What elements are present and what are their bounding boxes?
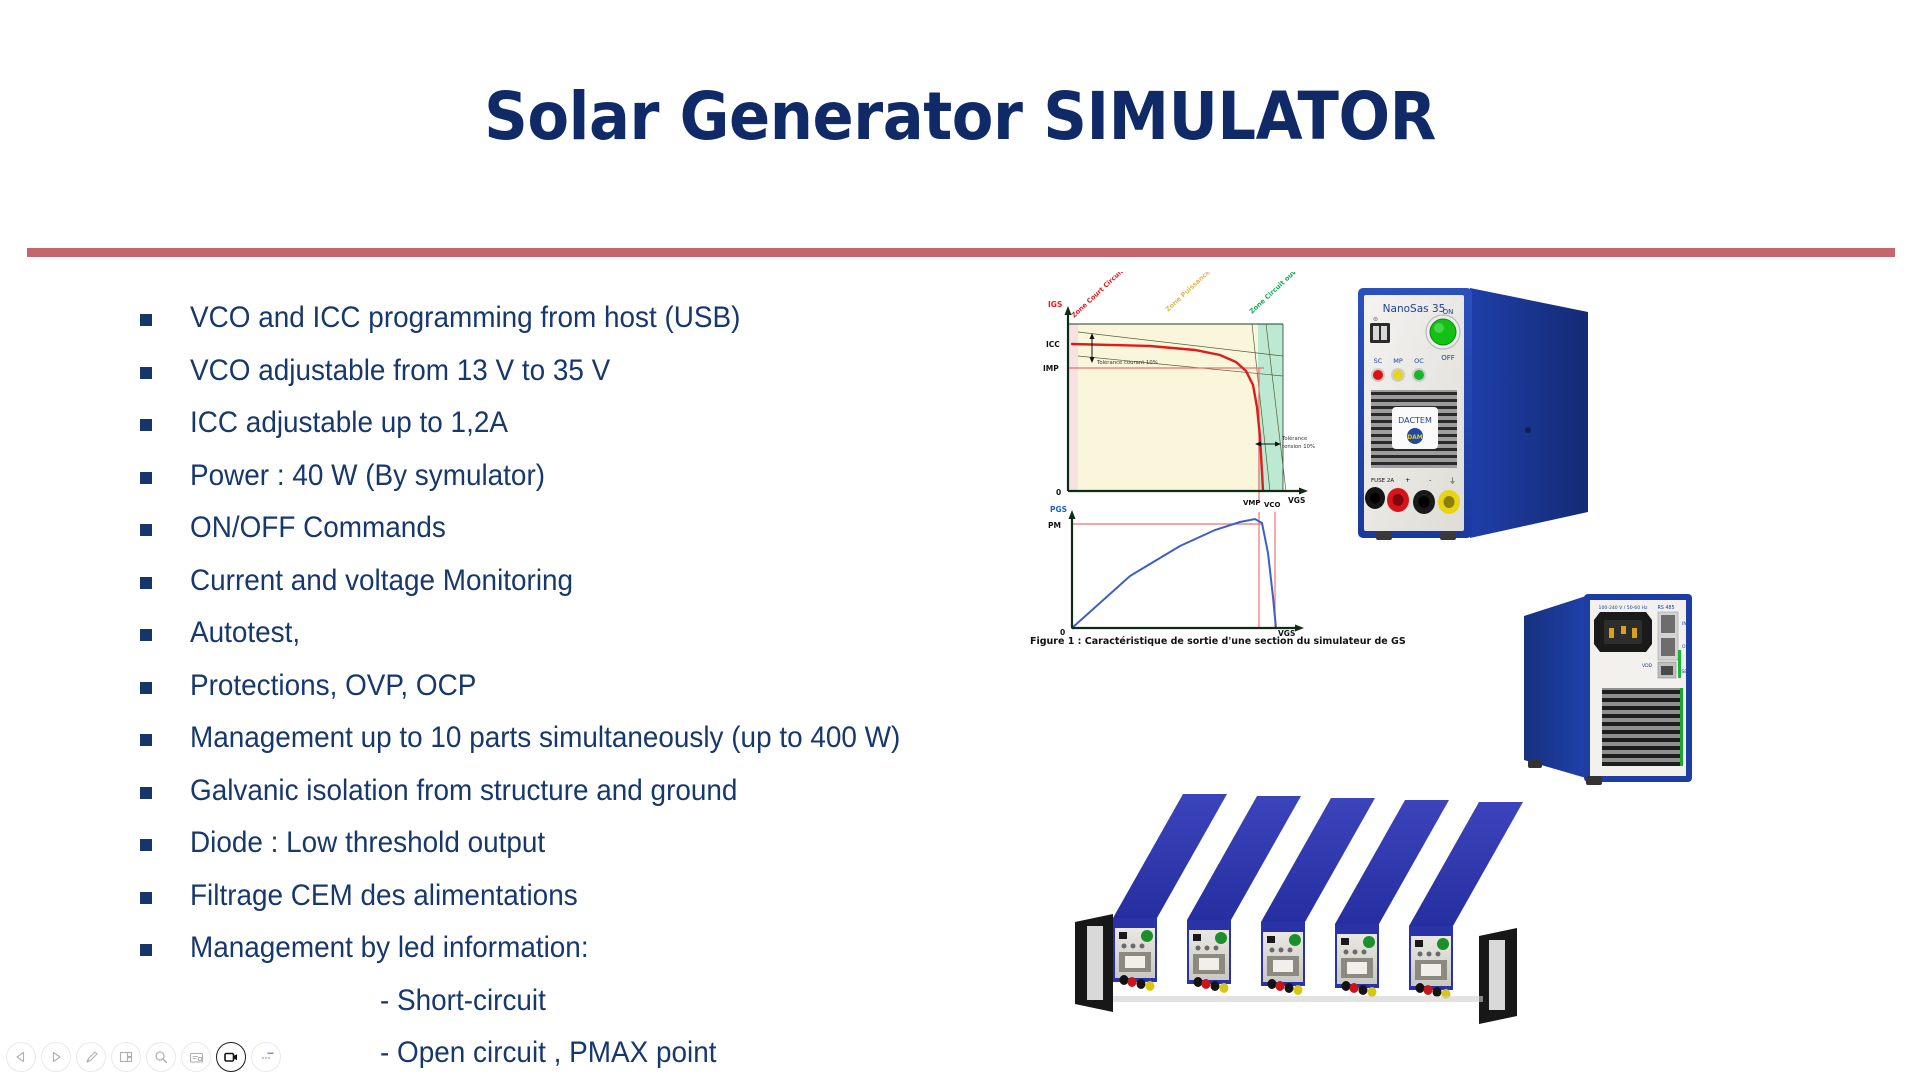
iec-pin-earth <box>1621 626 1626 634</box>
pv-y-axis-label: PGS <box>1050 505 1067 514</box>
terminal-label-positive: + <box>1405 476 1410 484</box>
sub-list-item: - Short-circuit <box>140 981 1045 1034</box>
zone-label-power: Zone Puissance <box>1164 272 1212 313</box>
sub-brand-label: DAM <box>1407 434 1423 441</box>
module-power-led <box>1215 932 1227 944</box>
bus-label: RS 485 <box>1657 605 1674 611</box>
rack-ear-right-plate <box>1489 940 1505 1010</box>
banana-jack-negative-hole <box>1419 496 1430 508</box>
rack-base-shadow <box>1113 996 1483 1002</box>
list-item: Protections, OVP, OCP <box>140 666 1045 719</box>
nanosas-front-unit-photo: NanoSas 35 ⊜ ON OFF SC MP OC <box>1348 280 1678 580</box>
module-power-led <box>1289 934 1301 946</box>
rear-foot-right <box>1586 776 1602 785</box>
current-tolerance-label: Tolérance courant 10% <box>1096 359 1158 366</box>
rj-port-in-label: IN <box>1682 621 1687 627</box>
presentation-icon <box>189 1050 204 1065</box>
rj-port-out[interactable] <box>1661 638 1675 656</box>
rear-vent-edge-led <box>1680 688 1683 766</box>
iv-x-axis-label: VGS <box>1288 496 1305 505</box>
banana-jack-fuse-hole <box>1370 493 1380 504</box>
device-model-label: NanoSas 35 <box>1383 303 1446 315</box>
list-item-label: Filtrage CEM des alimentations <box>190 876 578 916</box>
figure-svg: IGS ICC IMP 0 VMP VCO VGS Tolérance cour… <box>1030 272 1325 657</box>
short-circuit-zone <box>1068 324 1078 491</box>
bullet-square-icon <box>140 419 152 431</box>
list-item: ON/OFF Commands <box>140 508 1045 561</box>
nanosas-rear-unit-photo: 100-240 V / 50-60 Hz RS 485 IN OUT USB V… <box>1518 588 1733 803</box>
rear-foot-left <box>1528 760 1542 768</box>
page-title: Solar Generator SIMULATOR <box>77 78 1843 155</box>
iv-x-axis-arrow <box>1299 488 1308 495</box>
previous-slide-button[interactable] <box>6 1042 36 1072</box>
list-item: Galvanic isolation from structure and gr… <box>140 771 1045 824</box>
annotate-button[interactable] <box>76 1042 106 1072</box>
list-item-label: VCO adjustable from 13 V to 35 V <box>190 351 610 391</box>
rj-port-out-label: OUT <box>1682 644 1692 650</box>
list-item: Management up to 10 parts simultaneously… <box>140 718 1045 771</box>
slide-grid-button[interactable] <box>111 1042 141 1072</box>
power-button[interactable] <box>1430 319 1456 345</box>
list-item-label: Protections, OVP, OCP <box>190 666 476 706</box>
chassis-foot-left <box>1376 532 1392 540</box>
usb-port-icon: ⊜ <box>1373 316 1378 323</box>
module-switch[interactable] <box>1119 932 1127 939</box>
rear-chassis-side <box>1524 596 1586 778</box>
led-vdd-label: VDD <box>1642 663 1653 669</box>
list-item-label: Galvanic isolation from structure and gr… <box>190 771 737 811</box>
zone-label-short-circuit: Zone Court Circuit <box>1070 272 1125 319</box>
list-item-label: Diode : Low threshold output <box>190 823 545 863</box>
feature-bullet-list: VCO and ICC programming from host (USB) … <box>140 298 1045 1080</box>
next-slide-button[interactable] <box>41 1042 71 1072</box>
nanosas-rear-svg: 100-240 V / 50-60 Hz RS 485 IN OUT USB V… <box>1518 588 1733 803</box>
bullet-square-icon <box>140 787 152 799</box>
list-item: VCO adjustable from 13 V to 35 V <box>140 351 1045 404</box>
bullet-square-icon <box>140 629 152 641</box>
triangle-right-icon <box>49 1050 63 1064</box>
pv-x-axis-arrow <box>1295 625 1304 632</box>
module-switch[interactable] <box>1267 936 1275 943</box>
sub-list-item-label: - Short-circuit <box>380 981 546 1034</box>
list-item-label: Power : 40 W (By symulator) <box>190 456 545 496</box>
bullet-square-icon <box>140 944 152 956</box>
status-led-strip <box>1678 650 1681 678</box>
module-rack-svg <box>1075 790 1525 1040</box>
imp-tick-label: IMP <box>1043 364 1059 373</box>
list-item: ICC adjustable up to 1,2A <box>140 403 1045 456</box>
iv-y-axis-label: IGS <box>1048 300 1062 309</box>
list-item: Autotest, <box>140 613 1045 666</box>
rack-ear-left-plate <box>1087 926 1103 1000</box>
iv-origin-label: 0 <box>1056 488 1061 497</box>
list-item-label: ICC adjustable up to 1,2A <box>190 403 508 443</box>
ellipsis-icon <box>258 1049 274 1065</box>
power-button-highlight <box>1434 323 1444 333</box>
rj-port-in[interactable] <box>1661 615 1675 633</box>
usb-connector-slot-right <box>1381 326 1387 340</box>
fuse-label: FUSE 2A <box>1371 478 1394 484</box>
module-switch[interactable] <box>1415 940 1423 947</box>
bullet-square-icon <box>140 367 152 379</box>
chassis-side-screw <box>1525 427 1531 433</box>
pm-tick-label: PM <box>1048 521 1061 530</box>
voltage-tolerance-label-line2: tension 10% <box>1282 444 1315 450</box>
sub-list-item-label: - Open circuit , PMAX point <box>380 1033 716 1080</box>
led-sc <box>1373 370 1383 380</box>
vmp-tick-label: VMP <box>1243 499 1261 507</box>
module-rack-photo <box>1075 790 1525 1040</box>
list-item: Power : 40 W (By symulator) <box>140 456 1045 509</box>
nanosas-front-svg: NanoSas 35 ⊜ ON OFF SC MP OC <box>1348 280 1678 580</box>
bullet-square-icon <box>140 839 152 851</box>
presentation-toolbar <box>6 1042 281 1072</box>
figure-caption: Figure 1 : Caractéristique de sortie d'u… <box>1030 636 1330 647</box>
list-item: VCO and ICC programming from host (USB) <box>140 298 1045 351</box>
iec-pin-live <box>1609 628 1614 638</box>
pv-y-axis-arrow <box>1069 510 1076 519</box>
list-item-label: Management by led information: <box>190 928 589 968</box>
module-switch[interactable] <box>1193 934 1201 941</box>
icc-tick-label: ICC <box>1046 340 1060 349</box>
led-label-sc: SC <box>1374 357 1383 365</box>
mains-rating-label: 100-240 V / 50-60 Hz <box>1599 605 1649 611</box>
list-item-label: Management up to 10 parts simultaneously… <box>190 718 900 758</box>
power-off-label: OFF <box>1441 354 1455 362</box>
grid-icon <box>119 1050 133 1064</box>
bullet-square-icon <box>140 472 152 484</box>
usb-connector-slot-left <box>1373 326 1379 340</box>
bullet-square-icon <box>140 682 152 694</box>
module-power-led <box>1363 936 1375 948</box>
bullet-square-icon <box>140 524 152 536</box>
bullet-square-icon <box>140 892 152 904</box>
power-curve <box>1072 519 1276 628</box>
record-video-button[interactable] <box>216 1042 246 1072</box>
pen-icon <box>84 1050 99 1065</box>
vco-tick-label: VCO <box>1264 501 1281 509</box>
module-power-led <box>1437 938 1449 950</box>
list-item: Management by led information: <box>140 928 1045 981</box>
bullet-square-icon <box>140 734 152 746</box>
module-power-led <box>1141 930 1153 942</box>
led-label-mp: MP <box>1393 357 1403 365</box>
banana-jack-positive-hole <box>1393 494 1404 506</box>
bullet-square-icon <box>140 314 152 326</box>
brand-label: DACTEM <box>1398 416 1432 425</box>
list-item: Diode : Low threshold output <box>140 823 1045 876</box>
list-item: Filtrage CEM des alimentations <box>140 876 1045 929</box>
chassis-side <box>1470 288 1588 538</box>
iv-characteristic-figure: IGS ICC IMP 0 VMP VCO VGS Tolérance cour… <box>1030 272 1325 657</box>
module-switch[interactable] <box>1341 938 1349 945</box>
list-item-label: ON/OFF Commands <box>190 508 446 548</box>
title-divider <box>27 248 1895 257</box>
usb-port-slot <box>1661 666 1673 675</box>
led-mp <box>1393 370 1403 380</box>
triangle-left-icon <box>14 1050 28 1064</box>
banana-jack-ground-hole <box>1444 496 1455 508</box>
iec-pin-neutral <box>1632 628 1637 638</box>
zoom-button[interactable] <box>146 1042 176 1072</box>
slide-canvas: Solar Generator SIMULATOR VCO and ICC pr… <box>0 0 1920 1080</box>
magnifier-icon <box>154 1050 168 1064</box>
list-item-label: Autotest, <box>190 613 300 653</box>
led-label-oc: OC <box>1414 357 1424 365</box>
list-item-label: Current and voltage Monitoring <box>190 561 573 601</box>
terminal-label-ground: ⏚ <box>1449 477 1456 485</box>
bullet-square-icon <box>140 577 152 589</box>
chassis-foot-right <box>1440 532 1456 540</box>
zone-label-open-circuit: Zone Circuit ouvert <box>1248 272 1306 315</box>
led-oc <box>1414 370 1424 380</box>
more-options-button[interactable] <box>251 1042 281 1072</box>
presenter-view-button[interactable] <box>181 1042 211 1072</box>
list-item: Current and voltage Monitoring <box>140 561 1045 614</box>
voltage-tolerance-label-line1: Tolérance <box>1281 435 1307 442</box>
list-item-label: VCO and ICC programming from host (USB) <box>190 298 740 338</box>
video-camera-icon <box>223 1049 239 1065</box>
